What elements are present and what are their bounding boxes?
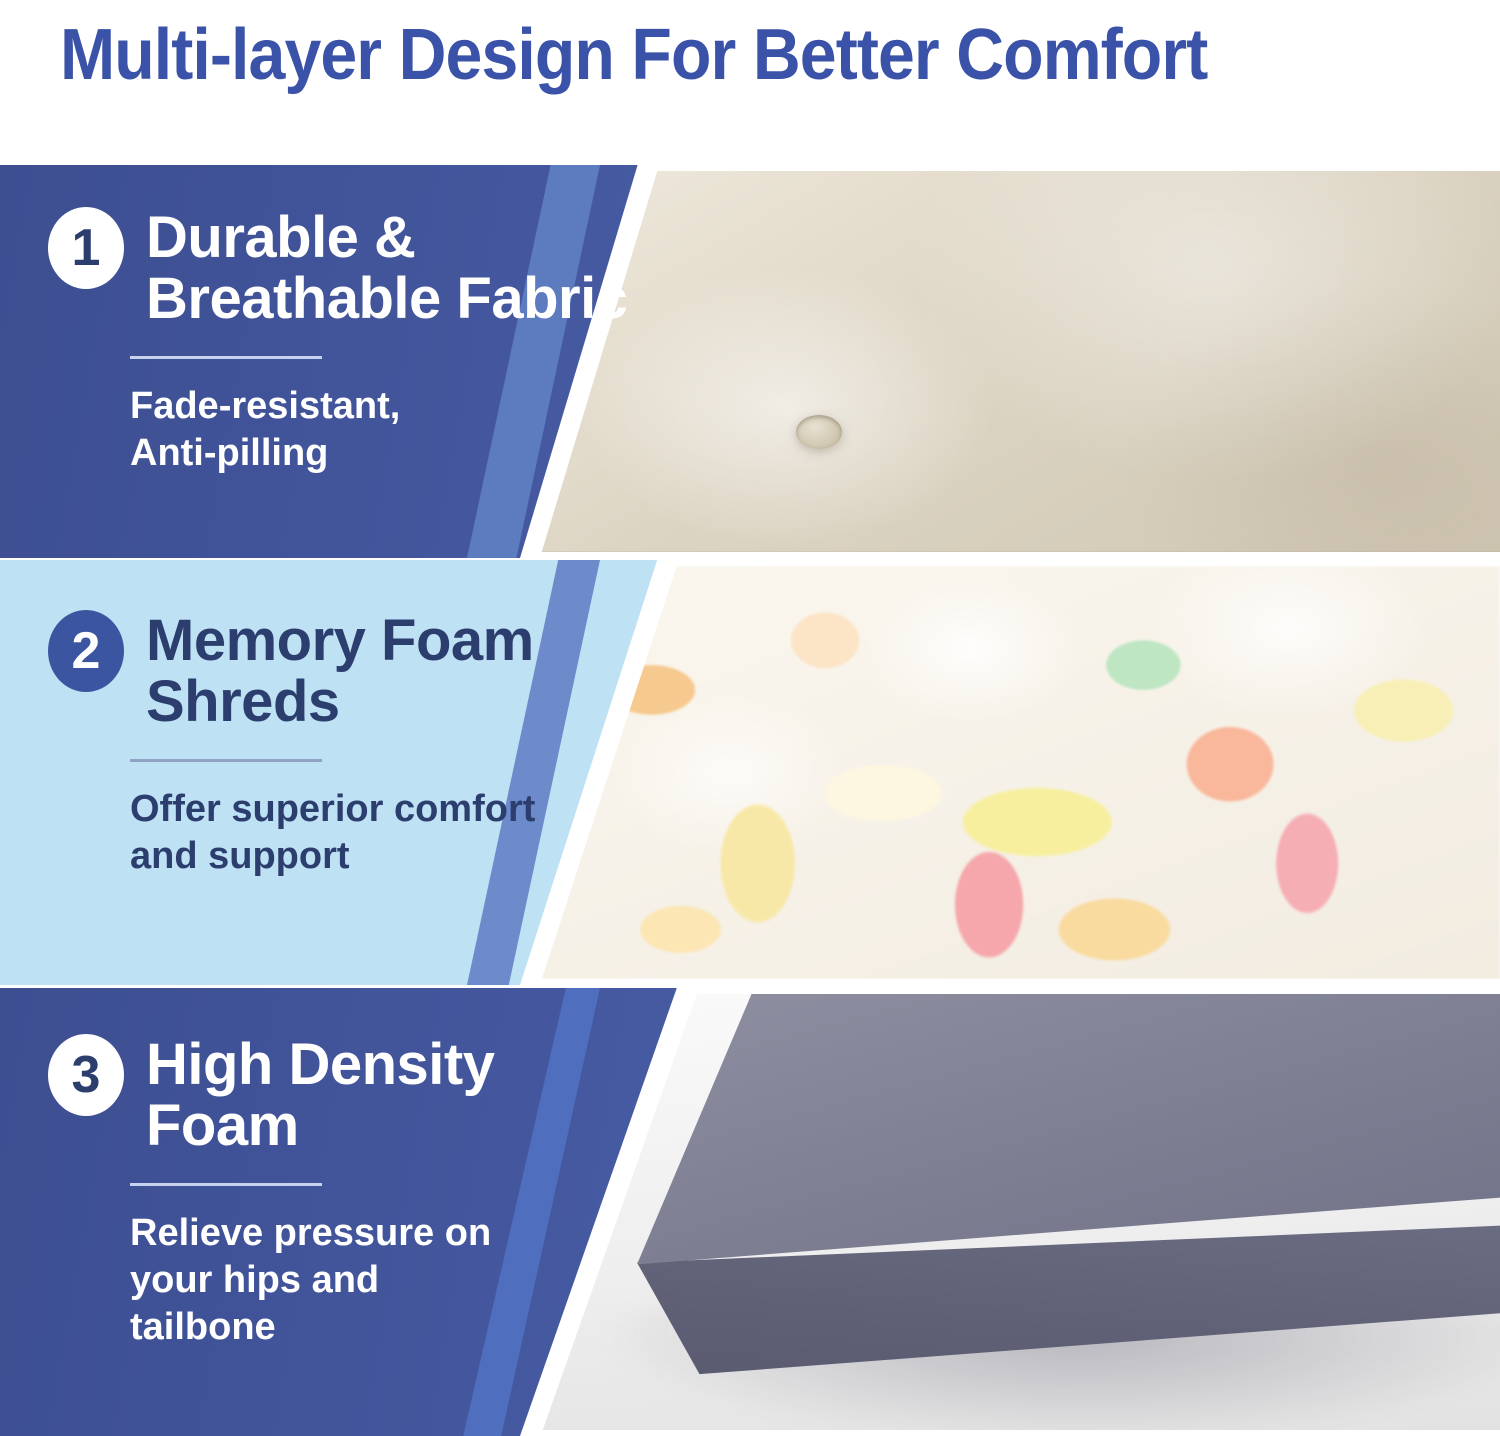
fabric-tuft-button-icon [796,415,842,449]
panel-1-text-block: 1 Durable & Breathable Fabric Fade-resis… [48,207,627,477]
feature-panel-1: 1 Durable & Breathable Fabric Fade-resis… [0,165,1500,558]
foam-shreds-texture-icon [536,566,1500,979]
panel-3-divider [130,1183,322,1186]
panel-1-subtext: Fade-resistant, Anti-pilling [130,383,627,477]
panel-2-subtext: Offer superior comfort and support [130,786,535,880]
feature-panel-2: 2 Memory Foam Shreds Offer superior comf… [0,560,1500,985]
panel-2-photo-shreds [536,566,1500,979]
panel-1-head-row: 1 Durable & Breathable Fabric [48,207,627,330]
panel-2-headline: Memory Foam Shreds [146,610,534,733]
panel-1-photo-region [520,165,1500,558]
panel-3-head-row: 3 High Density Foam [48,1034,495,1157]
panel-2-divider [130,759,322,762]
panel-2-number-badge: 2 [48,610,124,692]
panel-2-head-row: 2 Memory Foam Shreds [48,610,535,733]
panel-1-number-badge: 1 [48,207,124,289]
panel-3-number-badge: 3 [48,1034,124,1116]
panel-1-headline: Durable & Breathable Fabric [146,207,627,330]
panel-3-photo-foam [536,994,1500,1430]
page-title-bar: Multi-layer Design For Better Comfort [0,0,1500,110]
panel-1-photo-fabric [536,171,1500,552]
feature-panel-3: 3 High Density Foam Relieve pressure on … [0,988,1500,1436]
fabric-texture-icon [536,171,1500,552]
foam-block-icon [536,994,1500,1430]
panel-2-photo-region [520,560,1500,985]
panel-3-subtext: Relieve pressure on your hips and tailbo… [130,1210,495,1351]
infographic-root: Multi-layer Design For Better Comfort 1 … [0,0,1500,1436]
panel-3-photo-region [520,988,1500,1436]
page-title: Multi-layer Design For Better Comfort [60,19,1207,91]
panel-2-text-block: 2 Memory Foam Shreds Offer superior comf… [48,610,535,880]
panel-3-text-block: 3 High Density Foam Relieve pressure on … [48,1034,495,1351]
panel-1-divider [130,356,322,359]
panel-3-headline: High Density Foam [146,1034,495,1157]
